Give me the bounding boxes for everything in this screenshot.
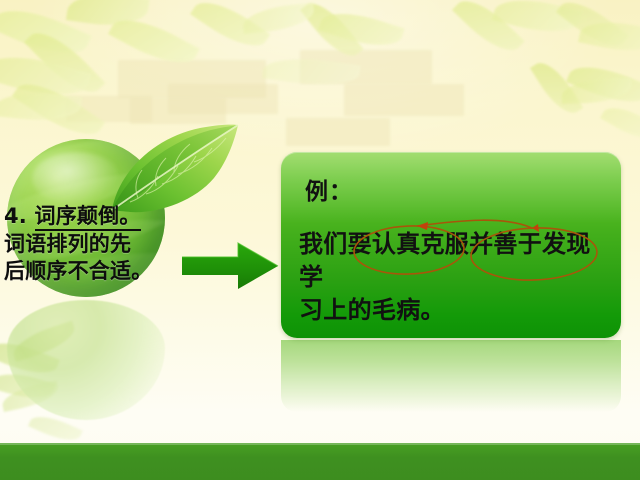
leaf-icon xyxy=(108,122,240,214)
background-leaf-icon xyxy=(241,3,315,34)
slide-canvas: 4. 词序颠倒。 词语排列的先 后顺序不合适。 例： 我们要认真克服并善于发现学… xyxy=(0,0,640,480)
example-label: 例： xyxy=(305,172,353,206)
heading-line: 4. 词序颠倒。 xyxy=(4,203,189,231)
example-box-reflection xyxy=(281,340,621,412)
background-brick xyxy=(286,118,390,146)
heading-underlined-text: 词序颠倒。 xyxy=(35,204,141,231)
example-sentence: 我们要认真克服并善于发现学 习上的毛病。 xyxy=(299,228,611,327)
heading-number: 4. xyxy=(4,204,27,228)
arrow-right-icon xyxy=(182,240,280,292)
bottom-bar xyxy=(0,443,640,480)
swap-arrow xyxy=(417,220,532,228)
example-box: 例： 我们要认真克服并善于发现学 习上的毛病。 xyxy=(281,152,621,338)
example-sentence-line-1: 我们要认真克服并善于发现学 xyxy=(299,228,611,294)
body-line-2: 后顺序不合适。 xyxy=(4,258,189,286)
background-brick xyxy=(344,84,464,116)
left-heading-block: 4. 词序颠倒。 词语排列的先 后顺序不合适。 xyxy=(4,203,189,286)
example-sentence-line-2: 习上的毛病。 xyxy=(299,294,611,327)
body-line-1: 词语排列的先 xyxy=(4,231,189,259)
background-leaf-icon xyxy=(600,99,640,147)
